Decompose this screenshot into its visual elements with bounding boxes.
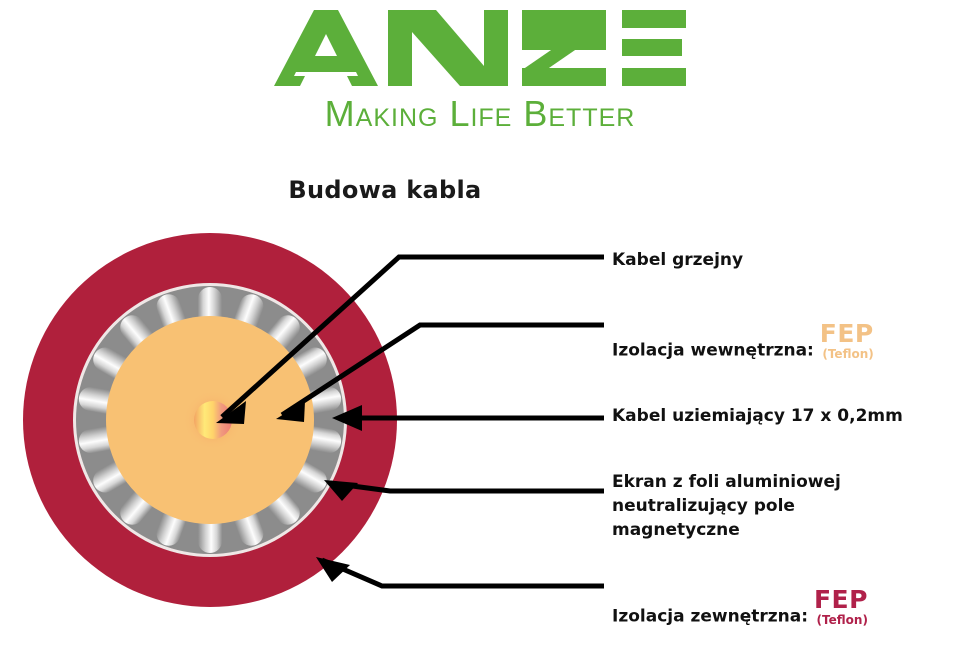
callout-2-text: Izolacja wewnętrzna:	[612, 341, 814, 361]
leader-line-5	[322, 560, 604, 586]
fep-outer-label: FEP	[814, 585, 868, 614]
diagram-page: Making Life Better Budowa kabla	[0, 0, 960, 648]
fep-outer-badge: FEP (Teflon)	[814, 582, 868, 629]
diagram-title: Budowa kabla	[0, 176, 770, 204]
callout-izolacja-zewnetrzna: Izolacja zewnętrzna: FEP (Teflon)	[612, 582, 868, 629]
callout-4-line2: neutralizujący pole	[612, 496, 795, 516]
brand-tagline-graphic: Making Life Better	[250, 92, 710, 138]
fep-inner-badge: FEP (Teflon)	[820, 316, 874, 363]
anze-logo	[270, 8, 690, 88]
callout-1-text: Kabel grzejny	[612, 250, 743, 270]
callout-5-text: Izolacja zewnętrzna:	[612, 607, 808, 627]
fep-inner-sublabel: (Teflon)	[820, 346, 874, 363]
brand-tagline-text: Making Life Better	[325, 93, 636, 134]
fep-inner-label: FEP	[820, 319, 874, 348]
brand-header: Making Life Better	[0, 8, 960, 138]
callout-izolacja-wewnetrzna: Izolacja wewnętrzna: FEP (Teflon)	[612, 316, 874, 363]
callout-3-text: Kabel uziemiający 17 x 0,2mm	[612, 406, 903, 426]
callout-ekran-aluminiowy: Ekran z foli aluminiowej neutralizujący …	[612, 470, 942, 542]
callout-4-line1: Ekran z foli aluminiowej	[612, 472, 841, 492]
fep-outer-sublabel: (Teflon)	[814, 612, 868, 629]
callout-4-line3: magnetyczne	[612, 520, 740, 540]
callout-kabel-grzejny: Kabel grzejny	[612, 248, 743, 272]
callout-kabel-uziemiajacy: Kabel uziemiający 17 x 0,2mm	[612, 404, 903, 428]
